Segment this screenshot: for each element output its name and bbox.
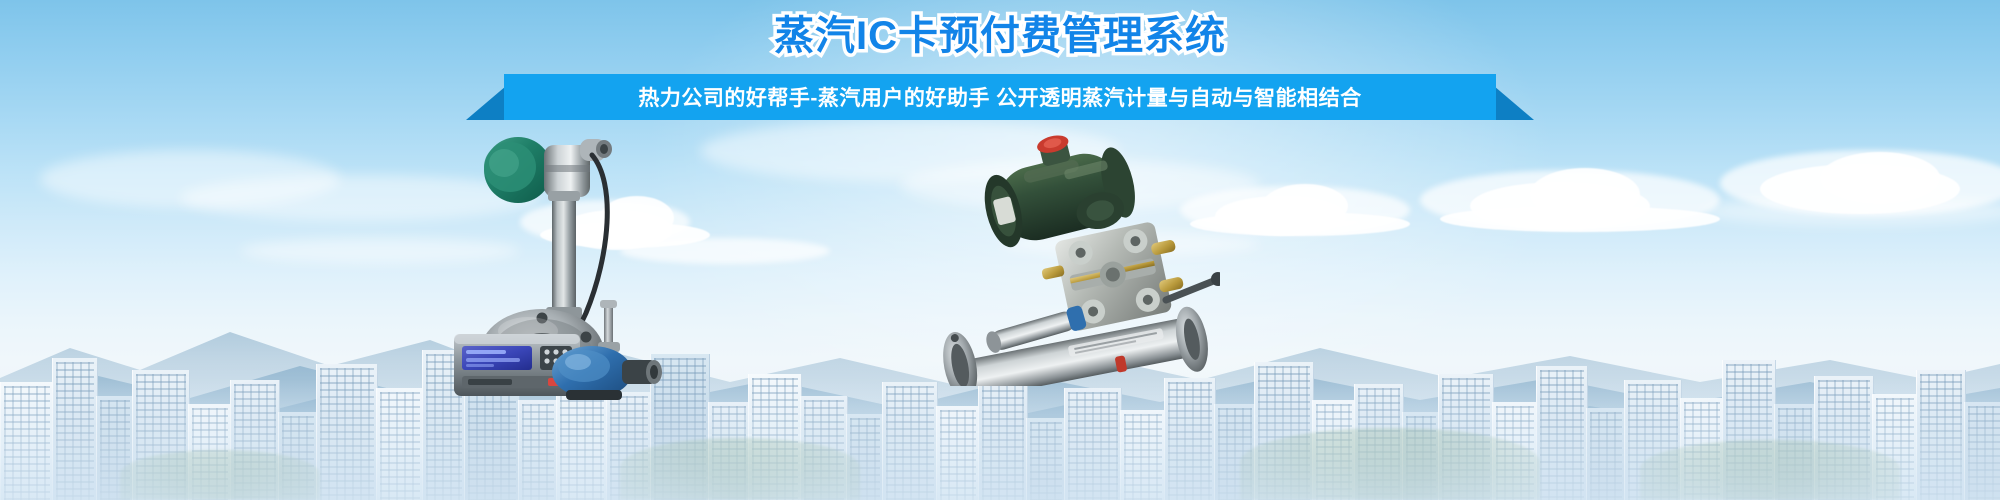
ribbon-bar: 热力公司的好帮手-蒸汽用户的好助手 公开透明蒸汽计量与自动与智能相结合 (504, 74, 1496, 120)
ribbon-wing-right-icon (1494, 86, 1534, 132)
pressure-temperature-probe (548, 300, 668, 400)
differential-pressure-transmitter (920, 128, 1220, 386)
banner-subtitle: 热力公司的好帮手-蒸汽用户的好助手 公开透明蒸汽计量与自动与智能相结合 (638, 82, 1361, 112)
page-title: 蒸汽IC卡预付费管理系统 (774, 16, 1226, 56)
product-banner: 蒸汽IC卡预付费管理系统 热力公司的好帮手-蒸汽用户的好助手 公开透明蒸汽计量与… (0, 0, 2000, 500)
subtitle-ribbon: 热力公司的好帮手-蒸汽用户的好助手 公开透明蒸汽计量与自动与智能相结合 (0, 74, 2000, 120)
banner-title-area: 蒸汽IC卡预付费管理系统 (0, 16, 2000, 56)
haze-overlay (0, 380, 2000, 500)
ribbon-wing-left-icon (466, 86, 506, 132)
